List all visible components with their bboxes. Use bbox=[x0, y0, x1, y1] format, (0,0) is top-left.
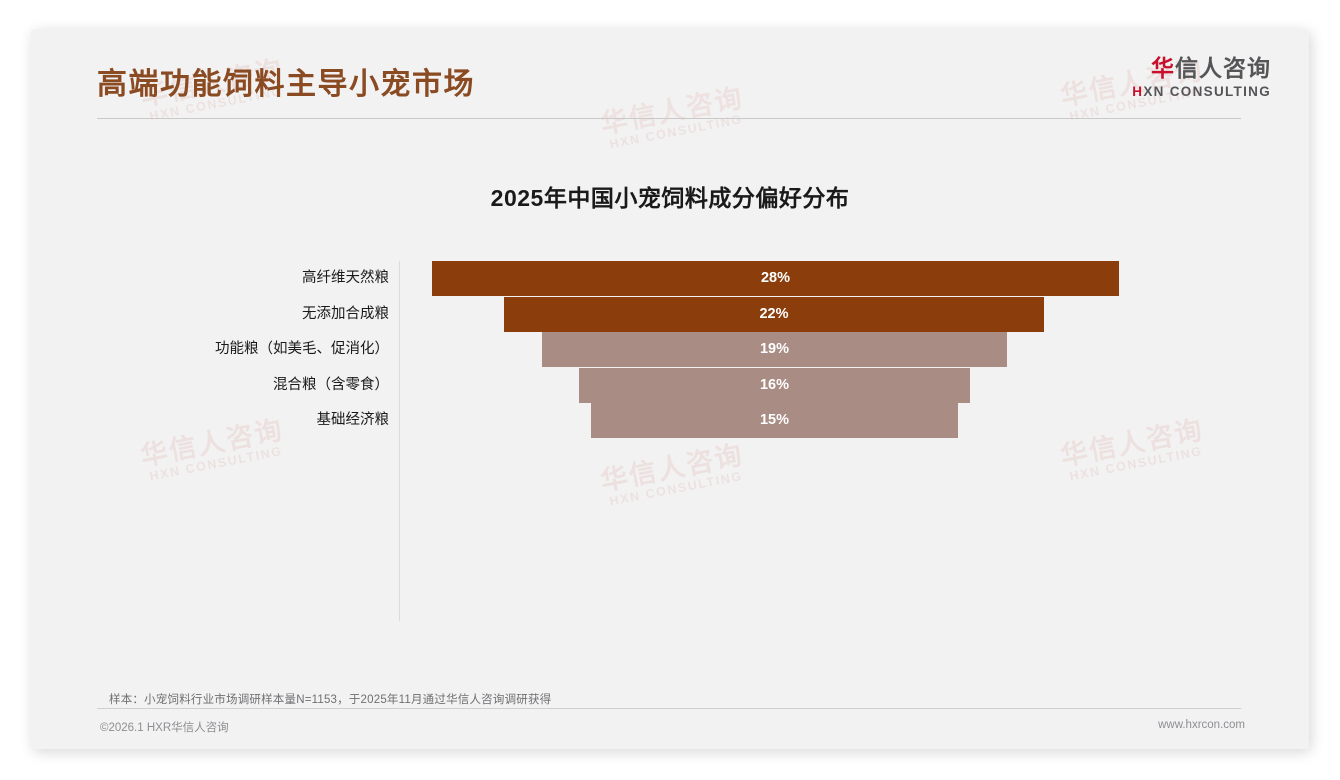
header-divider bbox=[97, 118, 1241, 119]
bar-value-label: 16% bbox=[579, 368, 970, 403]
bar-category-label: 基础经济粮 bbox=[71, 403, 389, 438]
chart-title: 2025年中国小宠饲料成分偏好分布 bbox=[31, 179, 1309, 213]
logo-english: HXN CONSULTING bbox=[1132, 85, 1271, 99]
logo-chinese: 华信人咨询 bbox=[1132, 57, 1271, 80]
bar-value-label: 28% bbox=[432, 261, 1119, 296]
bar-4[interactable]: 16% bbox=[579, 368, 970, 403]
chart-bar-row: 功能粮（如美毛、促消化）19% bbox=[71, 332, 1271, 367]
slide-header: 高端功能饲料主导小宠市场 华信人咨询 HXN CONSULTING bbox=[31, 29, 1309, 119]
page-title: 高端功能饲料主导小宠市场 bbox=[97, 59, 475, 103]
company-logo: 华信人咨询 HXN CONSULTING bbox=[1132, 57, 1271, 99]
bar-category-label: 无添加合成粮 bbox=[71, 297, 389, 332]
copyright-text: ©2026.1 HXR华信人咨询 bbox=[100, 719, 229, 735]
bar-category-label: 功能粮（如美毛、促消化） bbox=[71, 332, 389, 367]
slide-canvas: 华信人咨询HXN CONSULTING华信人咨询HXN CONSULTING华信… bbox=[31, 29, 1309, 749]
chart-plot-area: 高纤维天然粮28%无添加合成粮22%功能粮（如美毛、促消化）19%混合粮（含零食… bbox=[71, 261, 1271, 621]
bar-category-label: 高纤维天然粮 bbox=[71, 261, 389, 296]
bar-5[interactable]: 15% bbox=[591, 403, 958, 438]
logo-english-accent: H bbox=[1132, 84, 1143, 99]
bar-value-label: 19% bbox=[542, 332, 1007, 367]
bar-value-label: 22% bbox=[504, 297, 1044, 332]
chart-container: 2025年中国小宠饲料成分偏好分布 高纤维天然粮28%无添加合成粮22%功能粮（… bbox=[31, 129, 1309, 669]
bar-value-label: 15% bbox=[591, 403, 958, 438]
chart-bar-row: 高纤维天然粮28% bbox=[71, 261, 1271, 296]
logo-chinese-rest: 信人咨询 bbox=[1175, 55, 1271, 81]
bar-category-label: 混合粮（含零食） bbox=[71, 368, 389, 403]
bar-3[interactable]: 19% bbox=[542, 332, 1007, 367]
source-footnote: 样本：小宠饲料行业市场调研样本量N=1153，于2025年11月通过华信人咨询调… bbox=[109, 691, 551, 707]
bar-1[interactable]: 28% bbox=[432, 261, 1119, 296]
chart-bar-row: 无添加合成粮22% bbox=[71, 297, 1271, 332]
chart-bar-row: 基础经济粮15% bbox=[71, 403, 1271, 438]
website-link[interactable]: www.hxrcon.com bbox=[1158, 719, 1245, 731]
bar-2[interactable]: 22% bbox=[504, 297, 1044, 332]
logo-english-rest: XN CONSULTING bbox=[1143, 84, 1271, 99]
chart-bar-row: 混合粮（含零食）16% bbox=[71, 368, 1271, 403]
logo-chinese-accent: 华 bbox=[1151, 55, 1175, 81]
footer-divider bbox=[97, 708, 1241, 709]
